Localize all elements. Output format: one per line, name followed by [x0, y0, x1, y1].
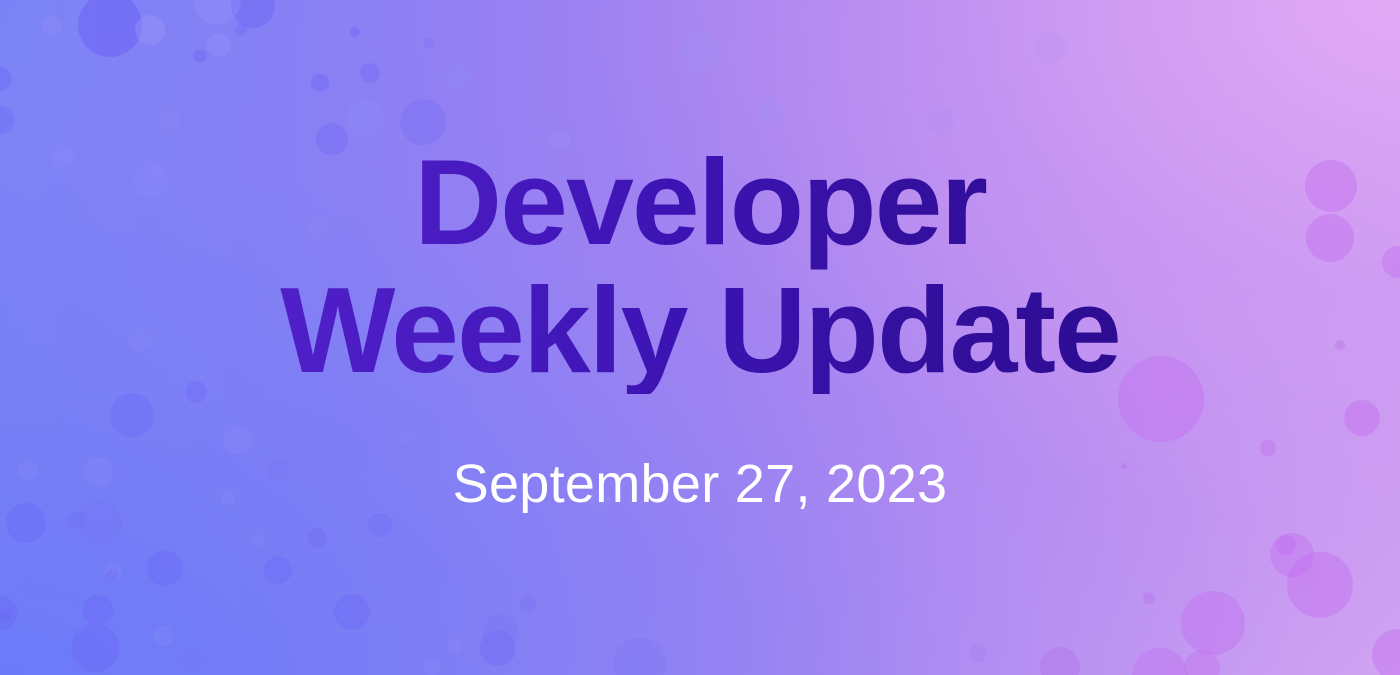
- page-title: Developer Weekly Update: [0, 0, 1400, 394]
- developer-weekly-update-banner: Developer Weekly Update September 27, 20…: [0, 0, 1400, 675]
- page-title-line-2: Weekly Update: [0, 266, 1400, 394]
- issue-date: September 27, 2023: [0, 394, 1400, 514]
- page-title-line-1: Developer: [0, 138, 1400, 266]
- banner-text-block: Developer Weekly Update September 27, 20…: [0, 0, 1400, 675]
